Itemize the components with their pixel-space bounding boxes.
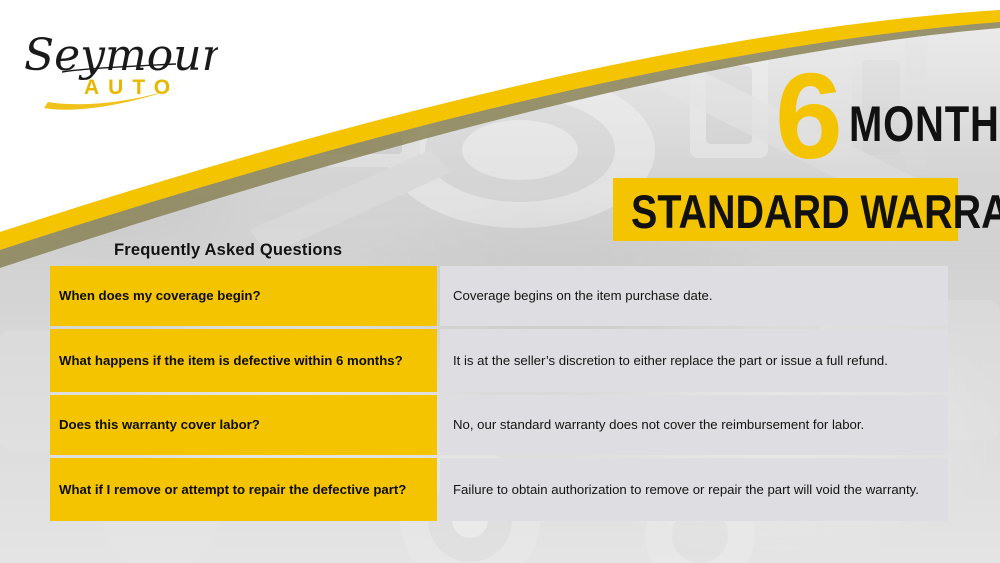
standard-warranty-text: STANDARD WARRANTY xyxy=(631,188,1000,235)
faq-heading: Frequently Asked Questions xyxy=(114,241,342,260)
faq-question-cell: What if I remove or attempt to repair th… xyxy=(50,458,437,521)
faq-answer-cell: It is at the seller’s discretion to eith… xyxy=(440,329,948,392)
warranty-headline: 6 MONTH STANDARD WARRANTY xyxy=(600,50,980,250)
warranty-duration-number: 6 xyxy=(775,55,841,177)
faq-question-cell: When does my coverage begin? xyxy=(50,266,437,326)
table-row: What if I remove or attempt to repair th… xyxy=(50,458,948,521)
warranty-duration-unit: MONTH xyxy=(849,99,1000,149)
standard-warranty-banner: STANDARD WARRANTY xyxy=(613,178,958,241)
table-row: What happens if the item is defective wi… xyxy=(50,329,948,392)
faq-question-cell: Does this warranty cover labor? xyxy=(50,395,437,455)
faq-answer-cell: Coverage begins on the item purchase dat… xyxy=(440,266,948,326)
faq-question-cell: What happens if the item is defective wi… xyxy=(50,329,437,392)
warranty-slide: Seymour AUTO 6 MONTH STANDARD WARRANTY F… xyxy=(0,0,1000,563)
faq-answer-cell: No, our standard warranty does not cover… xyxy=(440,395,948,455)
seymour-auto-logo: Seymour AUTO xyxy=(18,18,218,110)
table-row: Does this warranty cover labor? No, our … xyxy=(50,395,948,455)
table-row: When does my coverage begin? Coverage be… xyxy=(50,266,948,326)
faq-table: When does my coverage begin? Coverage be… xyxy=(50,266,948,521)
logo-script-text: Seymour xyxy=(24,30,218,81)
logo-auto-text: AUTO xyxy=(84,76,179,99)
faq-answer-cell: Failure to obtain authorization to remov… xyxy=(440,458,948,521)
